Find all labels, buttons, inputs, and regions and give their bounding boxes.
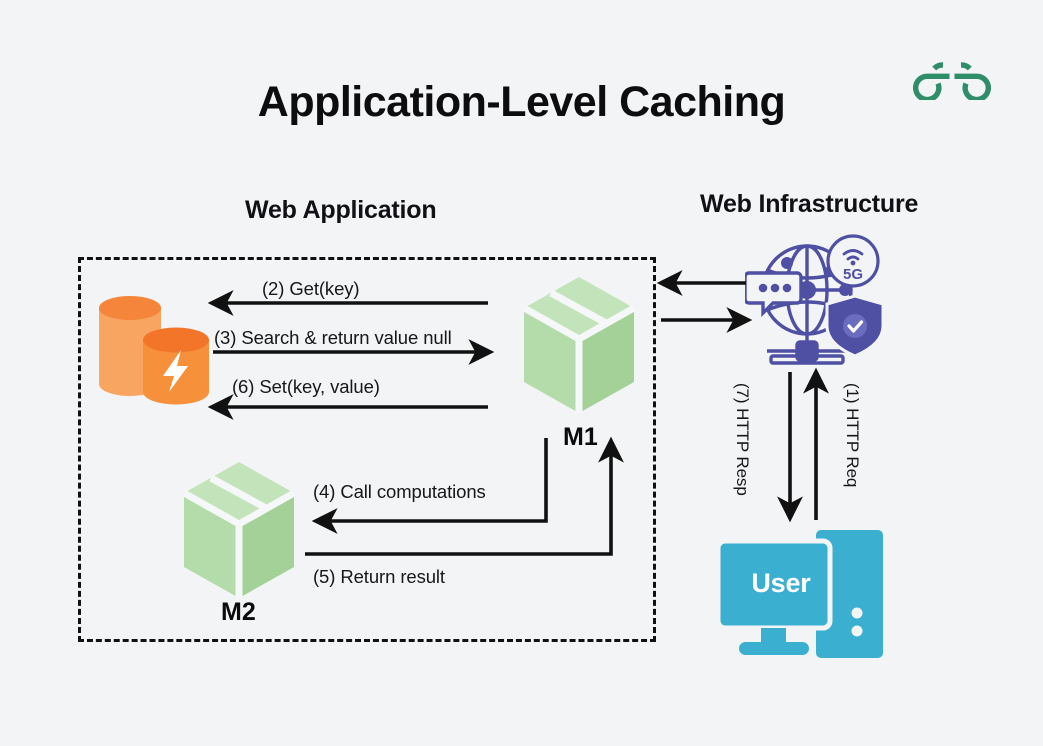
flow-label-4: (4) Call computations [313,481,486,503]
flow-label-1: (1) HTTP Req [842,383,862,487]
arrow-layer [0,0,1043,746]
flow-label-5: (5) Return result [313,566,445,588]
flow-label-6: (6) Set(key, value) [232,376,380,398]
diagram-canvas: Application-Level Caching Web Applicatio… [0,0,1043,746]
flow-label-3: (3) Search & return value null [214,327,452,349]
flow-label-2: (2) Get(key) [262,278,359,300]
flow-label-7: (7) HTTP Resp [732,383,752,496]
flow-arrow-4 [316,438,546,521]
